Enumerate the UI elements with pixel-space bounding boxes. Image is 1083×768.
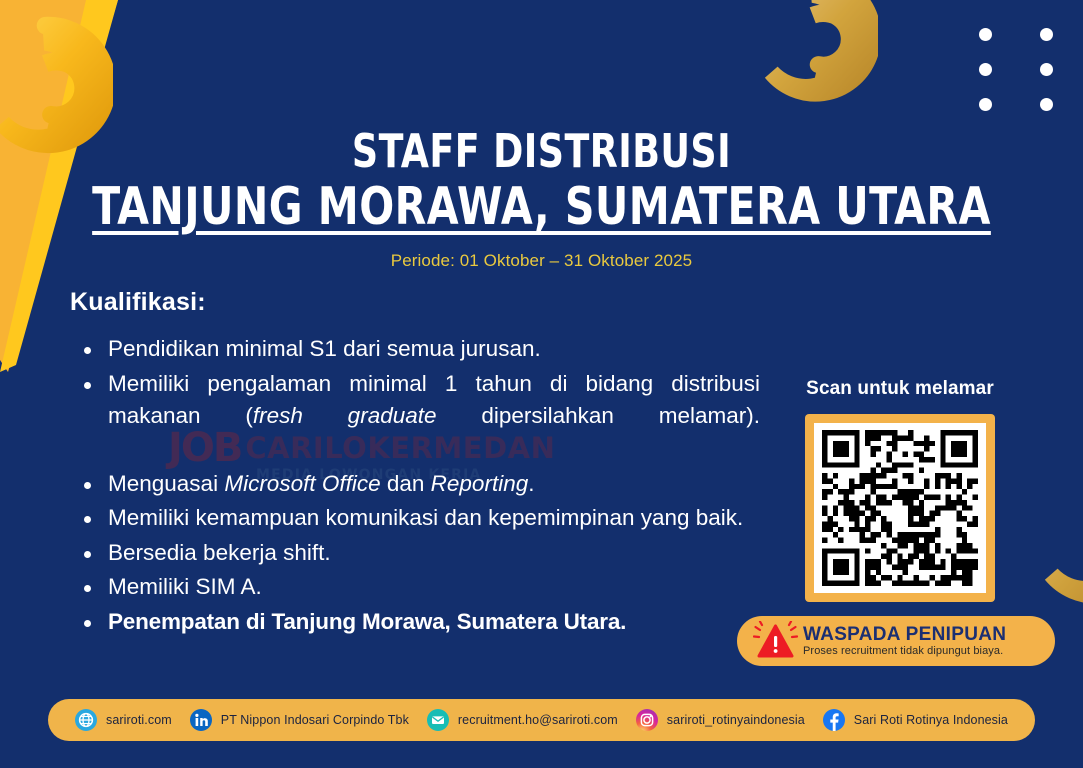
dot-grid-decoration xyxy=(979,28,1065,111)
decor-dot xyxy=(1040,63,1053,76)
item-text: dan xyxy=(381,471,431,496)
qualifications-heading: Kualifikasi: xyxy=(70,288,760,317)
item-text: Penempatan di Tanjung Morawa, Sumatera U… xyxy=(108,609,626,634)
contact-item[interactable]: Sari Roti Rotinya Indonesia xyxy=(823,709,1008,731)
facebook-icon xyxy=(823,709,845,731)
decor-dot xyxy=(1040,28,1053,41)
qr-code-icon[interactable] xyxy=(814,423,986,593)
qualification-item: Penempatan di Tanjung Morawa, Sumatera U… xyxy=(70,606,760,639)
qualification-item: Memiliki kemampuan komunikasi dan kepemi… xyxy=(70,502,760,535)
emphasis-text: fresh graduate xyxy=(253,403,437,428)
item-text: Memiliki SIM A. xyxy=(108,574,262,599)
email-icon xyxy=(427,709,449,731)
warning-subtitle: Proses recruitment tidak dipungut biaya. xyxy=(803,645,1006,657)
warning-title: WASPADA PENIPUAN xyxy=(803,625,1006,645)
swirl-decoration-icon xyxy=(748,0,878,106)
decor-dot xyxy=(979,98,992,111)
item-text: Memiliki kemampuan komunikasi dan kepemi… xyxy=(108,505,743,530)
linkedin-icon xyxy=(190,709,212,731)
contact-item[interactable]: sariroti_rotinyaindonesia xyxy=(636,709,805,731)
decor-dot xyxy=(1040,98,1053,111)
contact-item[interactable]: sariroti.com xyxy=(75,709,172,731)
contact-label: recruitment.ho@sariroti.com xyxy=(458,713,618,727)
warning-triangle-icon xyxy=(753,621,799,661)
emphasis-text: Reporting xyxy=(431,471,529,496)
item-text: Pendidikan minimal S1 dari semua jurusan… xyxy=(108,336,541,361)
qualifications-list: Pendidikan minimal S1 dari semua jurusan… xyxy=(70,333,760,639)
qr-caption: Scan untuk melamar xyxy=(740,378,1060,400)
fraud-warning-badge: WASPADA PENIPUAN Proses recruitment tida… xyxy=(737,616,1055,666)
qualification-item: Bersedia bekerja shift. xyxy=(70,537,760,570)
qr-frame xyxy=(805,414,995,602)
item-text: . xyxy=(528,471,534,496)
item-text: dipersilahkan melamar). xyxy=(437,403,760,428)
qualification-item: Memiliki pengalaman minimal 1 tahun di b… xyxy=(70,368,760,466)
qualifications-section: Kualifikasi: Pendidikan minimal S1 dari … xyxy=(70,288,760,641)
instagram-icon xyxy=(636,709,658,731)
contact-label: sariroti.com xyxy=(106,713,172,727)
contact-footer: sariroti.comPT Nippon Indosari Corpindo … xyxy=(48,699,1035,741)
contact-item[interactable]: PT Nippon Indosari Corpindo Tbk xyxy=(190,709,409,731)
contact-label: sariroti_rotinyaindonesia xyxy=(667,713,805,727)
page-subtitle-location: TANJUNG MORAWA, SUMATERA UTARA xyxy=(65,180,1018,235)
contact-label: PT Nippon Indosari Corpindo Tbk xyxy=(221,713,409,727)
qr-panel: Scan untuk melamar xyxy=(740,378,1060,602)
contact-item[interactable]: recruitment.ho@sariroti.com xyxy=(427,709,618,731)
item-text: Menguasai xyxy=(108,471,224,496)
globe-icon xyxy=(75,709,97,731)
qualification-item: Menguasai Microsoft Office dan Reporting… xyxy=(70,468,760,501)
qualification-item: Pendidikan minimal S1 dari semua jurusan… xyxy=(70,333,760,366)
headline-block: STAFF DISTRIBUSI TANJUNG MORAWA, SUMATER… xyxy=(0,128,1083,271)
decor-dot xyxy=(979,28,992,41)
emphasis-text: Microsoft Office xyxy=(224,471,380,496)
qualification-item: Memiliki SIM A. xyxy=(70,571,760,604)
contact-label: Sari Roti Rotinya Indonesia xyxy=(854,713,1008,727)
period-text: Periode: 01 Oktober – 31 Oktober 2025 xyxy=(0,251,1083,271)
page-title: STAFF DISTRIBUSI xyxy=(65,128,1018,174)
decor-dot xyxy=(979,63,992,76)
job-poster: JOB CARILOKERMEDAN MEDIA LOWONGAN KERJA … xyxy=(0,0,1083,768)
item-text: Bersedia bekerja shift. xyxy=(108,540,331,565)
